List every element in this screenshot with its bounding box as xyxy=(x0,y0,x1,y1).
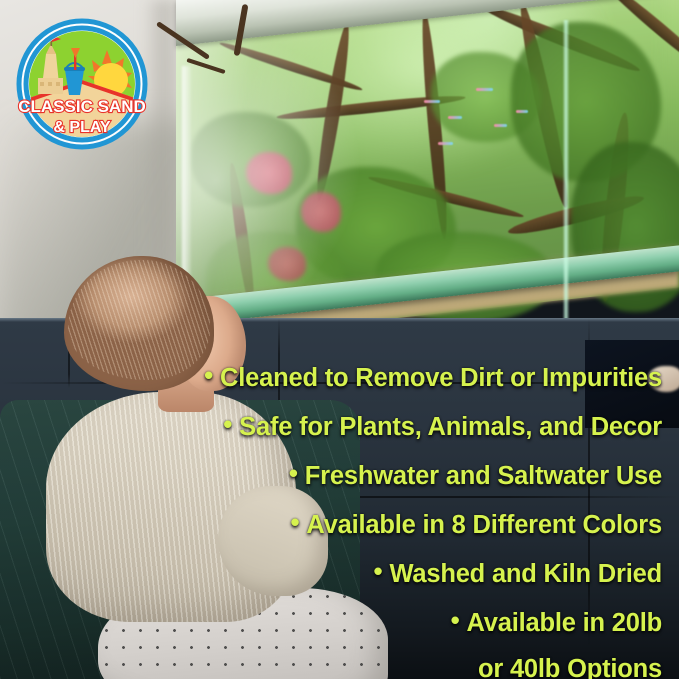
aquarium-red-plant xyxy=(246,152,292,194)
logo-title-line1: CLASSIC SAND xyxy=(18,97,146,116)
feature-bullet-text: Safe for Plants, Animals, and Decor xyxy=(239,413,662,441)
fish xyxy=(494,124,507,127)
fish xyxy=(424,100,440,103)
feature-bullet: •Available in 8 Different Colors xyxy=(180,499,662,548)
fish xyxy=(448,116,462,119)
bullet-dot-icon: • xyxy=(289,450,298,496)
feature-bullet-text: Washed and Kiln Dried xyxy=(389,560,662,588)
bullet-dot-icon: • xyxy=(290,499,299,545)
bullet-dot-icon: • xyxy=(374,548,383,594)
fish xyxy=(476,88,493,91)
feature-bullet-text: Freshwater and Saltwater Use xyxy=(305,462,662,490)
product-feature-image: CLASSIC SAND & PLAY •Cleaned to Remove D… xyxy=(0,0,679,679)
feature-bullet-text: Cleaned to Remove Dirt or Impurities xyxy=(220,364,662,392)
aquarium-red-plant xyxy=(301,192,341,232)
fish xyxy=(516,110,528,113)
feature-bullet-text: or 40lb Options xyxy=(478,655,662,679)
bullet-dot-icon: • xyxy=(223,401,232,447)
feature-bullet-list: •Cleaned to Remove Dirt or Impurities •S… xyxy=(180,352,662,679)
bullet-dot-icon: • xyxy=(204,352,213,398)
brand-logo[interactable]: CLASSIC SAND & PLAY xyxy=(8,18,156,150)
logo-title-line2: & PLAY xyxy=(53,119,111,136)
feature-bullet: •Safe for Plants, Animals, and Decor xyxy=(180,401,662,450)
feature-bullet-text: Available in 20lb xyxy=(467,609,662,637)
feature-bullet: •Washed and Kiln Dried xyxy=(180,548,662,597)
feature-bullet: •Freshwater and Saltwater Use xyxy=(180,450,662,499)
aquarium-glass-seam xyxy=(563,20,569,320)
bullet-dot-icon: • xyxy=(451,597,460,643)
feature-bullet: •Cleaned to Remove Dirt or Impurities xyxy=(180,352,662,401)
fish xyxy=(438,142,453,145)
feature-bullet-continuation: or 40lb Options xyxy=(180,646,662,679)
feature-bullet-text: Available in 8 Different Colors xyxy=(306,511,662,539)
feature-bullet: •Available in 20lb xyxy=(180,597,662,646)
